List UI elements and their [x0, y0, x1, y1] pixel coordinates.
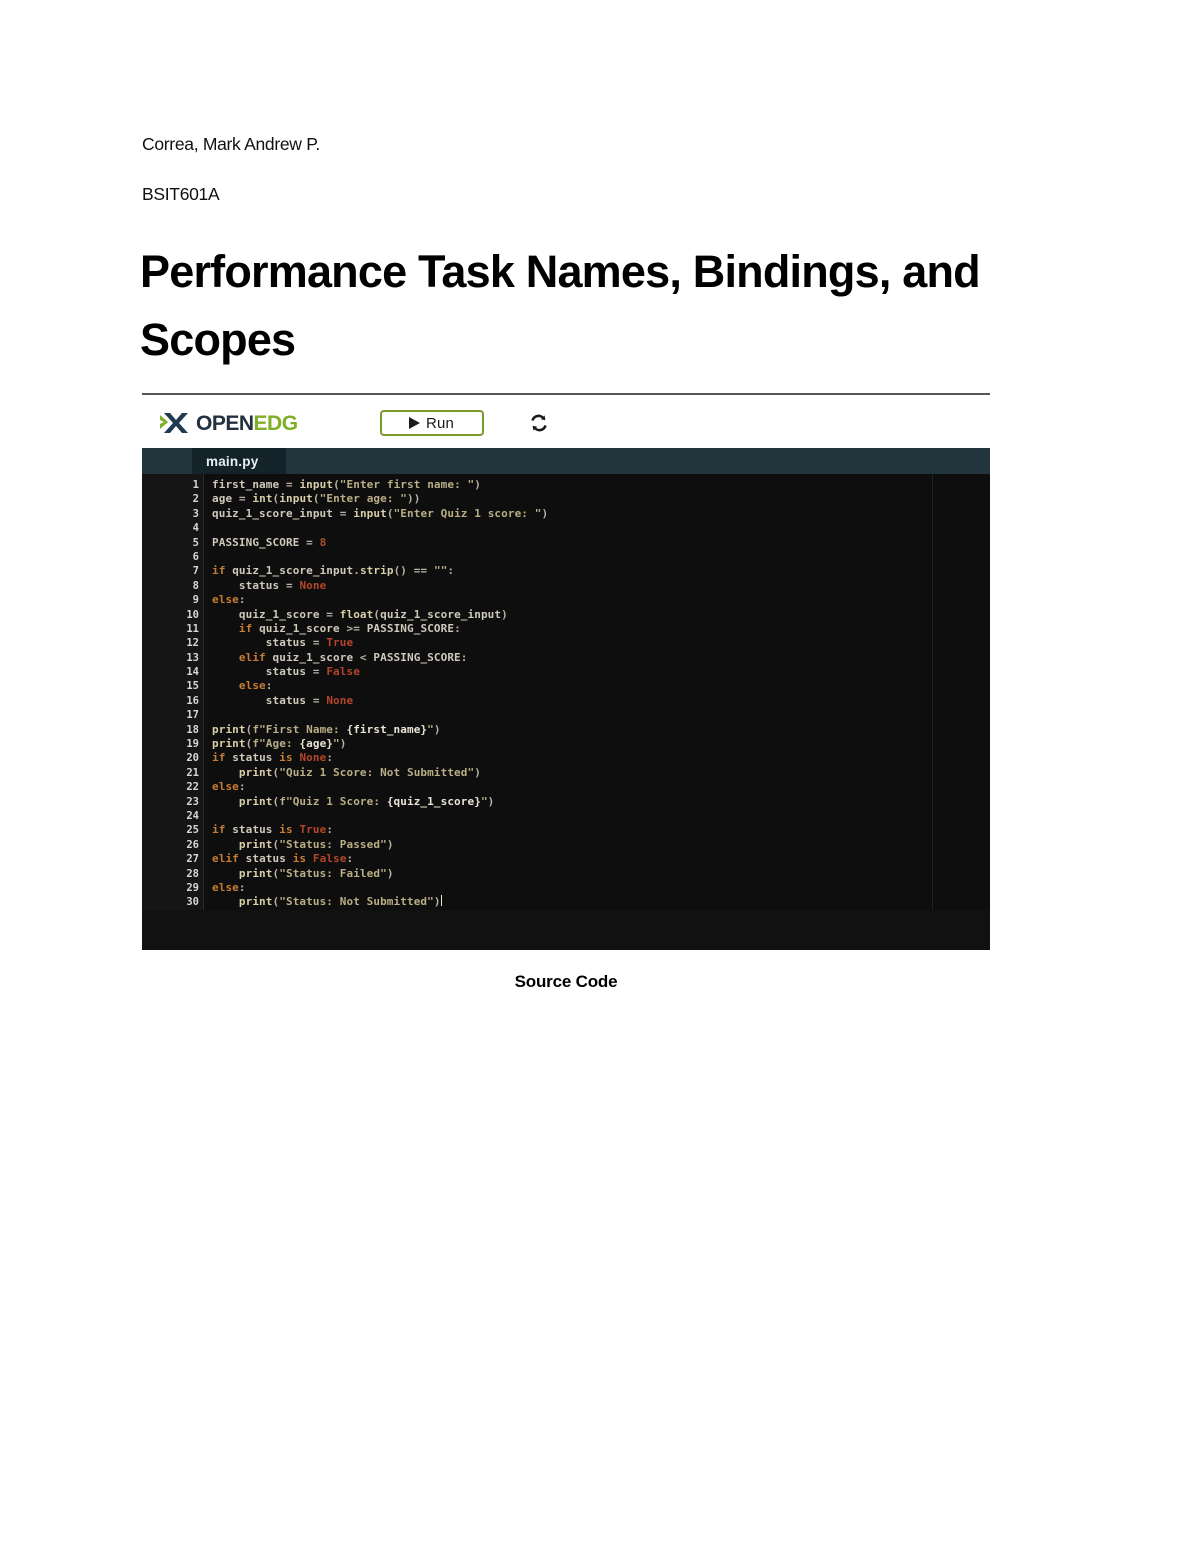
- line-number: 23: [142, 795, 203, 809]
- code-line: print(f"Age: {age}"): [212, 737, 990, 751]
- code-line: if quiz_1_score_input.strip() == "":: [212, 564, 990, 578]
- editor-tab-bar: main.py: [142, 448, 990, 474]
- code-line: else:: [212, 881, 990, 895]
- ide-toolbar: OPENEDG Run: [142, 398, 990, 448]
- line-number: 18: [142, 723, 203, 737]
- line-number: 26: [142, 838, 203, 852]
- logo-text-edg: EDG: [254, 412, 298, 435]
- document-page: Correa, Mark Andrew P. BSIT601A Performa…: [0, 0, 1200, 1553]
- editor-bottom-band: [142, 910, 990, 950]
- line-number: 24: [142, 809, 203, 823]
- line-number: 22▼: [142, 780, 203, 794]
- code-line: else:: [212, 679, 990, 693]
- code-editor[interactable]: 1234567▼89▼1011▼1213▼1415▼1617181920▼212…: [142, 474, 990, 950]
- line-number-gutter: 1234567▼89▼1011▼1213▼1415▼1617181920▼212…: [142, 474, 204, 950]
- code-line: status = False: [212, 665, 990, 679]
- code-line: status = None: [212, 579, 990, 593]
- line-number: 4: [142, 521, 203, 535]
- code-line: if status is None:: [212, 751, 990, 765]
- line-number: 19: [142, 737, 203, 751]
- code-line: first_name = input("Enter first name: "): [212, 478, 990, 492]
- line-number: 30: [142, 895, 203, 909]
- line-number: 15▼: [142, 679, 203, 693]
- line-number: 11▼: [142, 622, 203, 636]
- line-number: 25▼: [142, 823, 203, 837]
- line-number: 29▼: [142, 881, 203, 895]
- run-button[interactable]: Run: [380, 410, 484, 436]
- line-number: 5: [142, 536, 203, 550]
- code-line: else:: [212, 780, 990, 794]
- code-line: PASSING_SCORE = 8: [212, 536, 990, 550]
- line-number: 17: [142, 708, 203, 722]
- embedded-ide-screenshot: OPENEDG Run main.py 1234567▼89▼1011▼1213…: [142, 398, 990, 950]
- code-line: [212, 708, 990, 722]
- code-line: print("Status: Not Submitted"): [212, 895, 990, 909]
- line-number: 3: [142, 507, 203, 521]
- line-number: 13▼: [142, 651, 203, 665]
- logo-text-open: OPEN: [196, 412, 254, 435]
- code-line: age = int(input("Enter age: ")): [212, 492, 990, 506]
- code-line: quiz_1_score_input = input("Enter Quiz 1…: [212, 507, 990, 521]
- code-line: print("Quiz 1 Score: Not Submitted"): [212, 766, 990, 780]
- code-line: status = None: [212, 694, 990, 708]
- code-line: if quiz_1_score >= PASSING_SCORE:: [212, 622, 990, 636]
- tab-bar-spacer: [142, 448, 192, 474]
- run-button-label: Run: [426, 415, 454, 432]
- code-line: [212, 550, 990, 564]
- code-line: print("Status: Passed"): [212, 838, 990, 852]
- line-number: 16: [142, 694, 203, 708]
- author-name: Correa, Mark Andrew P.: [142, 136, 1002, 154]
- code-line: print("Status: Failed"): [212, 867, 990, 881]
- line-number: 12: [142, 636, 203, 650]
- code-line: status = True: [212, 636, 990, 650]
- line-number: 28: [142, 867, 203, 881]
- line-number: 2: [142, 492, 203, 506]
- code-line: else:: [212, 593, 990, 607]
- document-meta: Correa, Mark Andrew P. BSIT601A: [142, 136, 1002, 235]
- line-number: 10: [142, 608, 203, 622]
- refresh-icon: [528, 412, 550, 434]
- line-number: 7▼: [142, 564, 203, 578]
- refresh-button[interactable]: [526, 410, 552, 436]
- line-number: 20▼: [142, 751, 203, 765]
- page-title: Performance Task Names, Bindings, and Sc…: [140, 238, 1020, 375]
- code-line: print(f"Quiz 1 Score: {quiz_1_score}"): [212, 795, 990, 809]
- code-line: print(f"First Name: {first_name}"): [212, 723, 990, 737]
- code-content-area[interactable]: first_name = input("Enter first name: ")…: [204, 474, 990, 950]
- play-triangle-icon: [409, 417, 420, 429]
- line-number: 21: [142, 766, 203, 780]
- horizontal-divider: [142, 393, 990, 395]
- line-number: 14: [142, 665, 203, 679]
- line-number: 6: [142, 550, 203, 564]
- line-number: 27▼: [142, 852, 203, 866]
- openedg-logo: OPENEDG: [158, 408, 298, 438]
- course-code: BSIT601A: [142, 186, 1002, 204]
- line-number: 8: [142, 579, 203, 593]
- line-number: 1: [142, 478, 203, 492]
- code-line: [212, 521, 990, 535]
- code-line: [212, 809, 990, 823]
- code-line: elif status is False:: [212, 852, 990, 866]
- code-line: quiz_1_score = float(quiz_1_score_input): [212, 608, 990, 622]
- logo-text: OPENEDG: [196, 413, 298, 434]
- code-line: if status is True:: [212, 823, 990, 837]
- code-line: elif quiz_1_score < PASSING_SCORE:: [212, 651, 990, 665]
- text-caret: [441, 895, 442, 906]
- figure-caption: Source Code: [142, 972, 990, 992]
- editor-vertical-divider: [932, 474, 933, 950]
- line-number: 9▼: [142, 593, 203, 607]
- x-logo-icon: [158, 409, 194, 437]
- tab-main-py[interactable]: main.py: [192, 448, 286, 474]
